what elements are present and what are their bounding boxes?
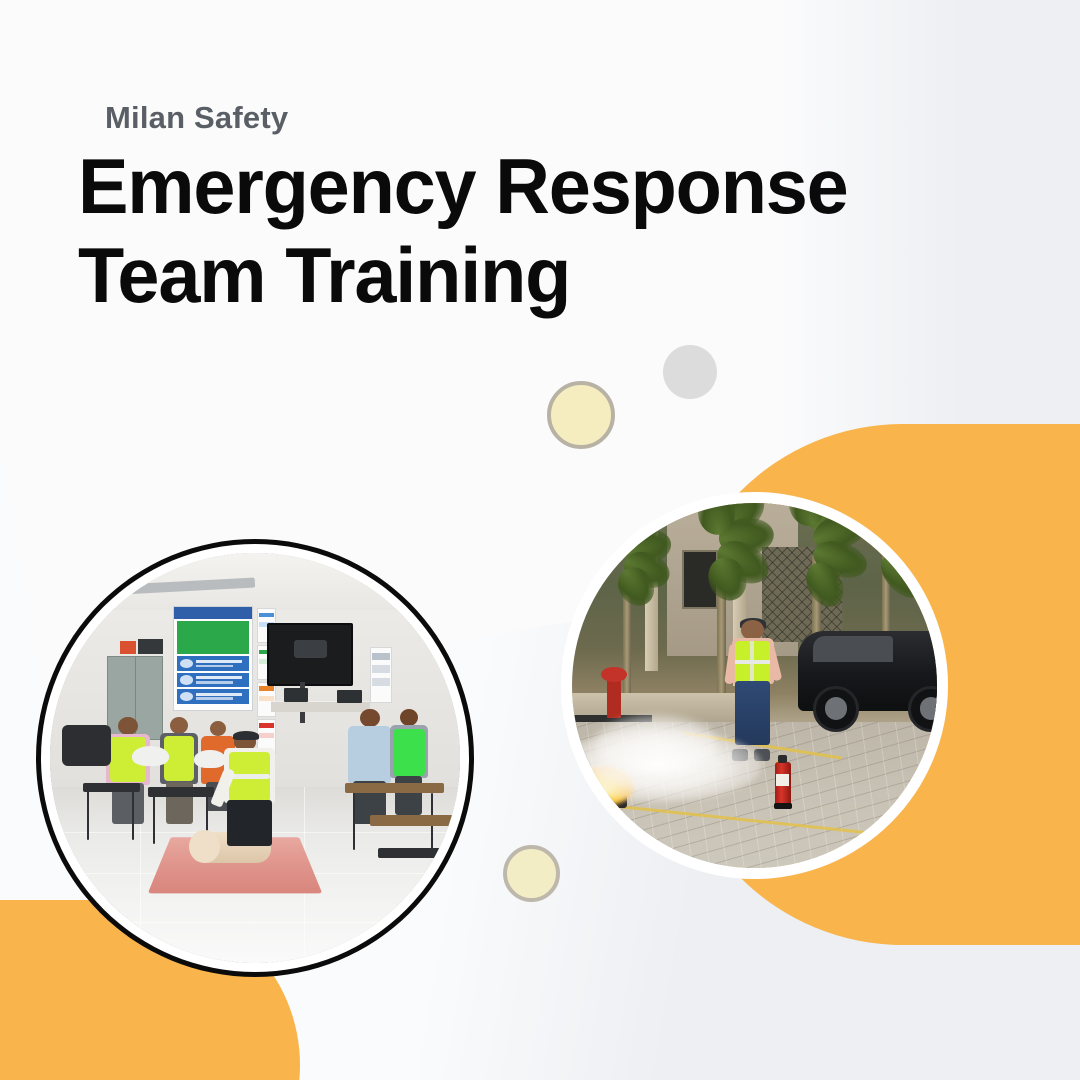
seated-trainee xyxy=(386,709,431,816)
page-title: Emergency Response Team Training xyxy=(78,142,951,320)
car-wheel xyxy=(813,686,859,732)
fire-extinguisher xyxy=(775,762,791,806)
laptop xyxy=(337,690,362,702)
decorative-yellow-circle-large xyxy=(547,381,615,449)
laptop xyxy=(284,688,309,702)
storage-box-red xyxy=(120,641,136,654)
classroom-table xyxy=(345,783,443,794)
palm-tree xyxy=(579,510,674,722)
fire-drill-scene: 09-13 xyxy=(572,503,937,868)
poster-canvas: Milan Safety Emergency Response Team Tra… xyxy=(0,0,1080,1080)
headline-block: Milan Safety Emergency Response Team Tra… xyxy=(78,100,978,320)
brand-kicker: Milan Safety xyxy=(105,100,978,136)
photo-cpr-classroom xyxy=(50,553,460,963)
photo-fire-extinguisher-drill: 09-13 xyxy=(572,503,937,868)
wall-mounted-tv xyxy=(267,623,353,686)
cpr-classroom-scene xyxy=(50,553,460,963)
instructor-performing-cpr xyxy=(218,733,280,848)
decorative-grey-circle xyxy=(663,345,717,399)
safety-helmet xyxy=(132,746,169,767)
page-title-line-1: Emergency Response xyxy=(78,142,848,230)
classroom-table xyxy=(370,815,460,826)
fire-hydrant-cap xyxy=(601,667,627,682)
cpr-manikin-head xyxy=(189,830,220,863)
backpack xyxy=(62,725,111,766)
storage-box-dark xyxy=(138,639,163,654)
page-title-line-2: Team Training xyxy=(78,231,570,319)
folding-chair xyxy=(148,787,214,797)
folding-chair xyxy=(378,848,444,858)
mandatory-ppe-sign xyxy=(173,606,253,711)
car-window xyxy=(813,636,893,662)
notice-poster xyxy=(370,647,393,702)
decorative-yellow-circle-small xyxy=(503,845,560,902)
seated-trainee xyxy=(157,717,202,824)
